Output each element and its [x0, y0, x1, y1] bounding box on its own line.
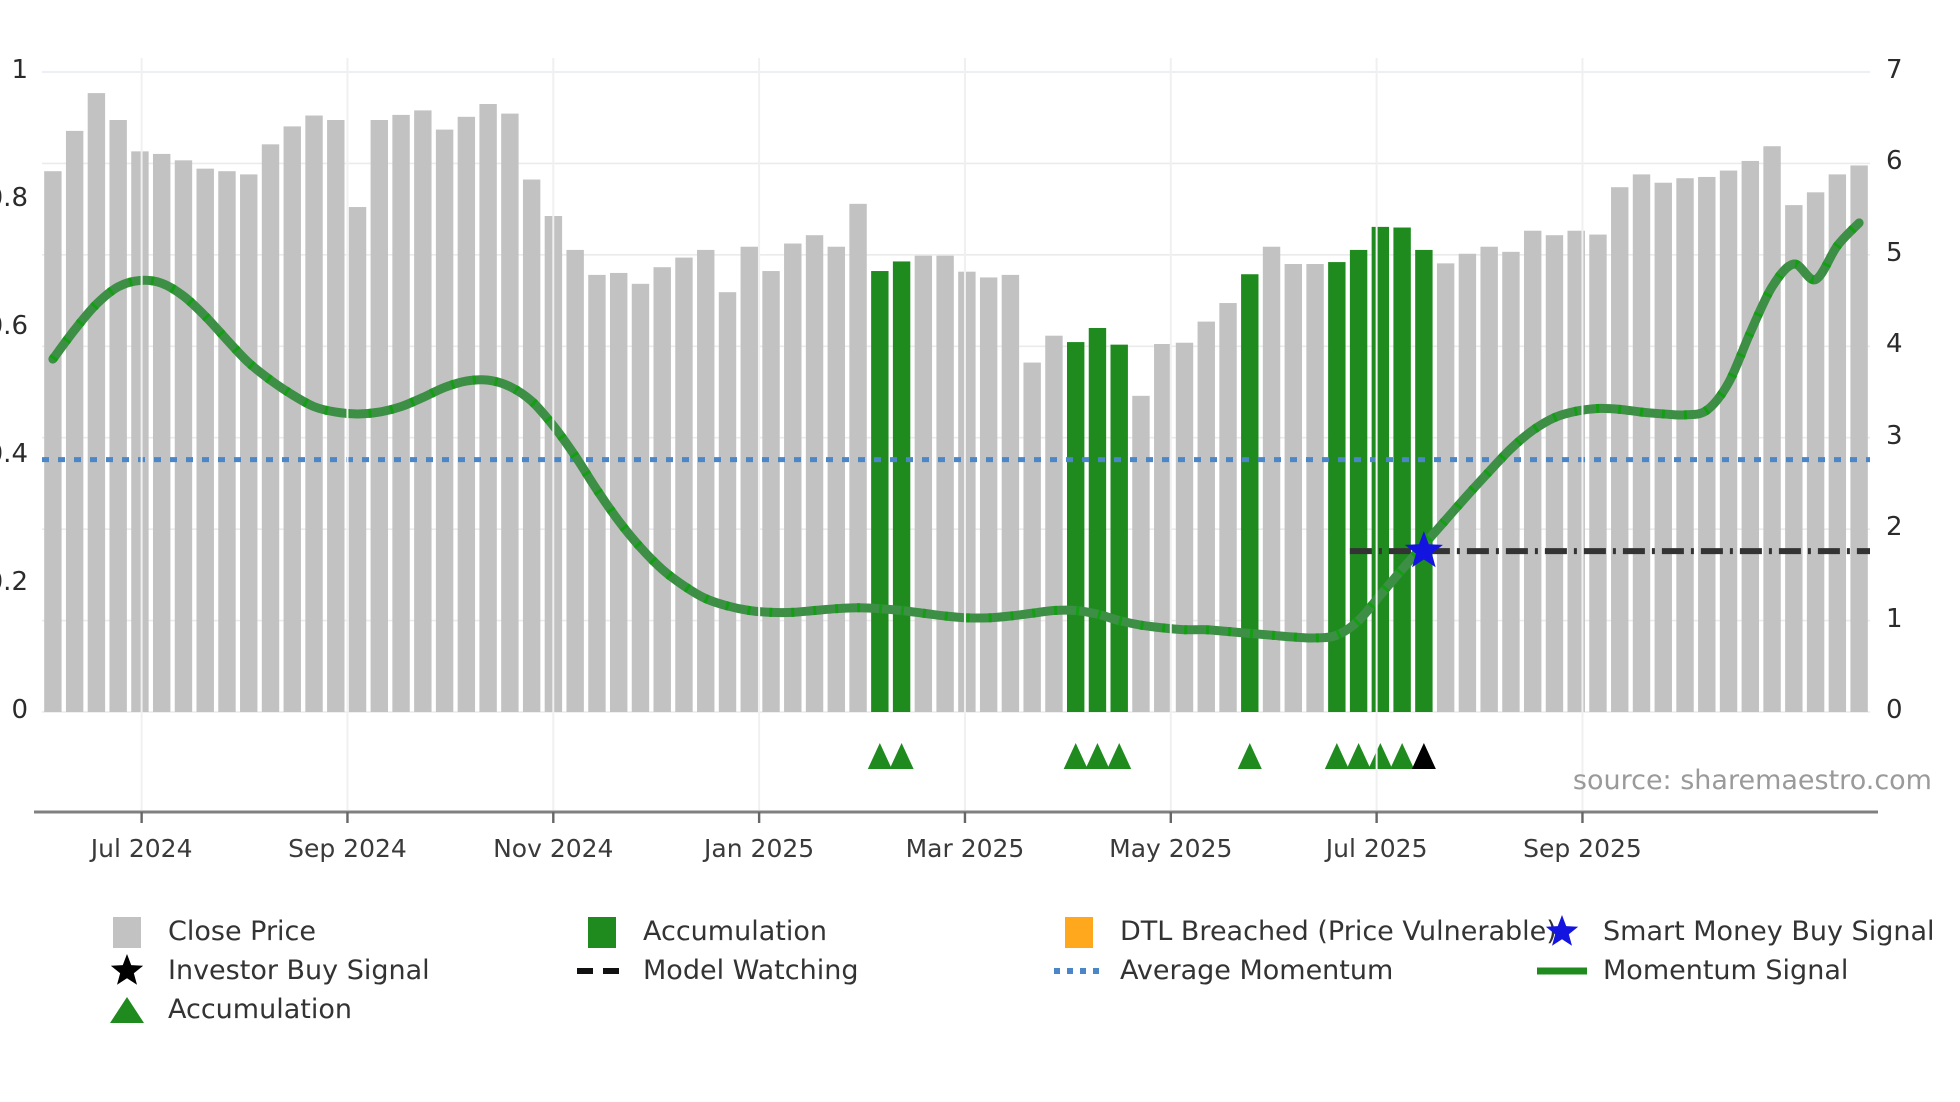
right-axis-tick-label: 6: [1886, 146, 1903, 176]
close-price-bar: [458, 117, 475, 712]
legend-item-label: Smart Money Buy Signal: [1603, 918, 1935, 945]
legend-item[interactable]: Close Price: [100, 912, 316, 951]
close-price-bar: [479, 104, 496, 712]
legend-item-label: DTL Breached (Price Vulnerable): [1120, 918, 1557, 945]
close-price-bar: [893, 261, 910, 712]
legend-item-label: Investor Buy Signal: [168, 957, 430, 984]
close-price-bar: [197, 169, 214, 712]
close-price-bar: [523, 180, 540, 712]
legend-dashed-line-icon: [575, 954, 629, 988]
accumulation-triangle-marker: [1238, 743, 1262, 769]
square-icon: [1052, 915, 1106, 949]
close-price-bar: [1546, 235, 1563, 712]
legend-star-icon: [1535, 915, 1589, 949]
legend-item[interactable]: Model Watching: [575, 951, 858, 990]
square-icon: [100, 915, 154, 949]
legend-item-label: Accumulation: [168, 996, 352, 1023]
legend-item[interactable]: Momentum Signal: [1535, 951, 1848, 990]
close-price-bar: [828, 247, 845, 712]
legend-row: Close PriceAccumulationDTL Breached (Pri…: [100, 912, 1940, 951]
close-price-bar: [1742, 161, 1759, 712]
close-price-bar: [632, 284, 649, 712]
chart-canvas: 10.80.60.40.20 76543210 Jul 2024Sep 2024…: [0, 0, 1960, 1102]
legend-item[interactable]: Smart Money Buy Signal: [1535, 912, 1935, 951]
right-axis-tick-label: 5: [1886, 238, 1903, 268]
left-axis-tick-label: 0.6: [0, 311, 28, 341]
close-price-bar: [175, 160, 192, 712]
accumulation-triangle-marker: [1390, 743, 1414, 769]
close-price-bar: [218, 171, 235, 712]
right-axis-tick-label: 0: [1886, 695, 1903, 725]
accumulation-triangle-marker: [1064, 743, 1088, 769]
close-price-bar: [305, 116, 322, 712]
close-price-bar: [915, 256, 932, 712]
legend-triangle-icon: [100, 993, 154, 1027]
close-price-bar: [1633, 174, 1650, 712]
legend-item[interactable]: Accumulation: [100, 990, 352, 1029]
close-price-bar: [153, 154, 170, 712]
close-price-bar: [610, 273, 627, 712]
close-price-bar: [66, 131, 83, 712]
left-axis-tick-label: 0.2: [0, 567, 28, 597]
close-price-bar: [784, 244, 801, 712]
legend-item[interactable]: Investor Buy Signal: [100, 951, 430, 990]
source-credit: source: sharemaestro.com: [1573, 765, 1932, 796]
right-axis-tick-label: 7: [1886, 55, 1903, 85]
legend-solid-line-icon: [1535, 954, 1589, 988]
chart-legend: Close PriceAccumulationDTL Breached (Pri…: [100, 912, 1940, 1029]
accumulation-triangle-markers: [868, 743, 1436, 769]
close-price-bar: [1306, 264, 1323, 712]
close-price-bar: [1263, 247, 1280, 712]
legend-row: Investor Buy SignalModel WatchingAverage…: [100, 951, 1940, 990]
close-price-bar: [741, 247, 758, 712]
plot-area: [42, 72, 1870, 872]
legend-item-label: Accumulation: [643, 918, 827, 945]
left-axis-tick-label: 0.4: [0, 439, 28, 469]
close-price-bar: [1850, 165, 1867, 712]
close-price-bar: [871, 271, 888, 712]
close-price-bar: [1241, 274, 1258, 712]
close-price-bar: [131, 151, 148, 712]
close-price-bar: [1611, 187, 1628, 712]
close-price-bar: [1089, 328, 1106, 712]
legend-item-label: Momentum Signal: [1603, 957, 1848, 984]
accumulation-triangle-marker: [1347, 743, 1371, 769]
close-price-bar: [1763, 146, 1780, 712]
close-price-bar: [284, 126, 301, 712]
close-price-bar: [1285, 264, 1302, 712]
investor-buy-signal-marker: [1412, 743, 1436, 769]
close-price-bar: [1002, 275, 1019, 712]
close-price-bar: [654, 267, 671, 712]
right-axis-tick-label: 2: [1886, 512, 1903, 542]
close-price-bar: [1524, 231, 1541, 712]
right-axis-tick-label: 1: [1886, 604, 1903, 634]
accumulation-triangle-marker: [890, 743, 914, 769]
close-price-bar: [1502, 252, 1519, 712]
close-price-bar: [1589, 235, 1606, 712]
close-price-bar: [44, 171, 61, 712]
close-price-bar: [936, 256, 953, 712]
solid-line-icon: [1535, 954, 1589, 988]
legend-star-icon: [100, 954, 154, 988]
legend-item-label: Close Price: [168, 918, 316, 945]
close-price-bar: [1655, 183, 1672, 712]
dotted-line-icon: [1052, 954, 1106, 988]
accumulation-triangle-marker: [1368, 743, 1392, 769]
close-price-bar: [1328, 262, 1345, 712]
dashed-line-icon: [575, 954, 629, 988]
legend-item[interactable]: Average Momentum: [1052, 951, 1393, 990]
close-price-bar: [1219, 303, 1236, 712]
legend-item-label: Model Watching: [643, 957, 858, 984]
close-price-bar: [675, 258, 692, 712]
legend-row: Accumulation: [100, 990, 1940, 1029]
triangle-icon: [100, 993, 154, 1027]
left-axis-tick-label: 1: [11, 55, 28, 85]
close-price-bar: [1437, 263, 1454, 712]
accumulation-triangle-marker: [868, 743, 892, 769]
close-price-bar: [1393, 228, 1410, 712]
close-price-bar: [566, 250, 583, 712]
close-price-bar: [958, 272, 975, 712]
right-axis-tick-label: 3: [1886, 421, 1903, 451]
left-axis-tick-label: 0.8: [0, 183, 28, 213]
close-price-bar: [1720, 171, 1737, 712]
square-icon: [575, 915, 629, 949]
close-price-bar: [1154, 344, 1171, 712]
legend-square-swatch-icon: [1052, 915, 1106, 949]
right-axis-tick-label: 4: [1886, 329, 1903, 359]
legend-item[interactable]: Accumulation: [575, 912, 827, 951]
star-icon: [1535, 915, 1589, 949]
legend-item-label: Average Momentum: [1120, 957, 1393, 984]
close-price-bar: [980, 277, 997, 712]
close-price-bar: [762, 271, 779, 712]
close-price-bar: [1132, 396, 1149, 712]
close-price-bar: [1698, 177, 1715, 712]
close-price-bar: [1045, 336, 1062, 712]
close-price-bar: [1350, 250, 1367, 712]
close-price-bar: [1067, 342, 1084, 712]
close-price-bar: [392, 115, 409, 712]
legend-dotted-line-icon: [1052, 954, 1106, 988]
star-icon: [100, 954, 154, 988]
close-price-bar: [697, 250, 714, 712]
close-price-bar: [501, 114, 518, 712]
legend-square-swatch-icon: [100, 915, 154, 949]
close-price-bar: [719, 292, 736, 712]
close-price-bar: [1415, 250, 1432, 712]
close-price-bar: [1372, 227, 1389, 712]
legend-square-swatch-icon: [575, 915, 629, 949]
close-price-bar: [109, 120, 126, 712]
accumulation-triangle-marker: [1085, 743, 1109, 769]
close-price-bar: [436, 130, 453, 712]
left-axis-tick-label: 0: [11, 695, 28, 725]
close-price-bar: [1023, 363, 1040, 712]
close-price-bar: [1198, 322, 1215, 712]
momentum-signal-line: [53, 223, 1859, 638]
close-price-bar: [262, 144, 279, 712]
accumulation-triangle-marker: [1325, 743, 1349, 769]
close-price-bar: [806, 235, 823, 712]
close-price-bar: [88, 93, 105, 712]
legend-item[interactable]: DTL Breached (Price Vulnerable): [1052, 912, 1557, 951]
close-price-bar: [414, 110, 431, 712]
accumulation-triangle-marker: [1107, 743, 1131, 769]
close-price-bar: [1111, 345, 1128, 712]
close-price-bar: [240, 174, 257, 712]
close-price-bar: [1676, 178, 1693, 712]
plot-svg: [42, 72, 1870, 872]
close-price-bar: [1176, 343, 1193, 712]
